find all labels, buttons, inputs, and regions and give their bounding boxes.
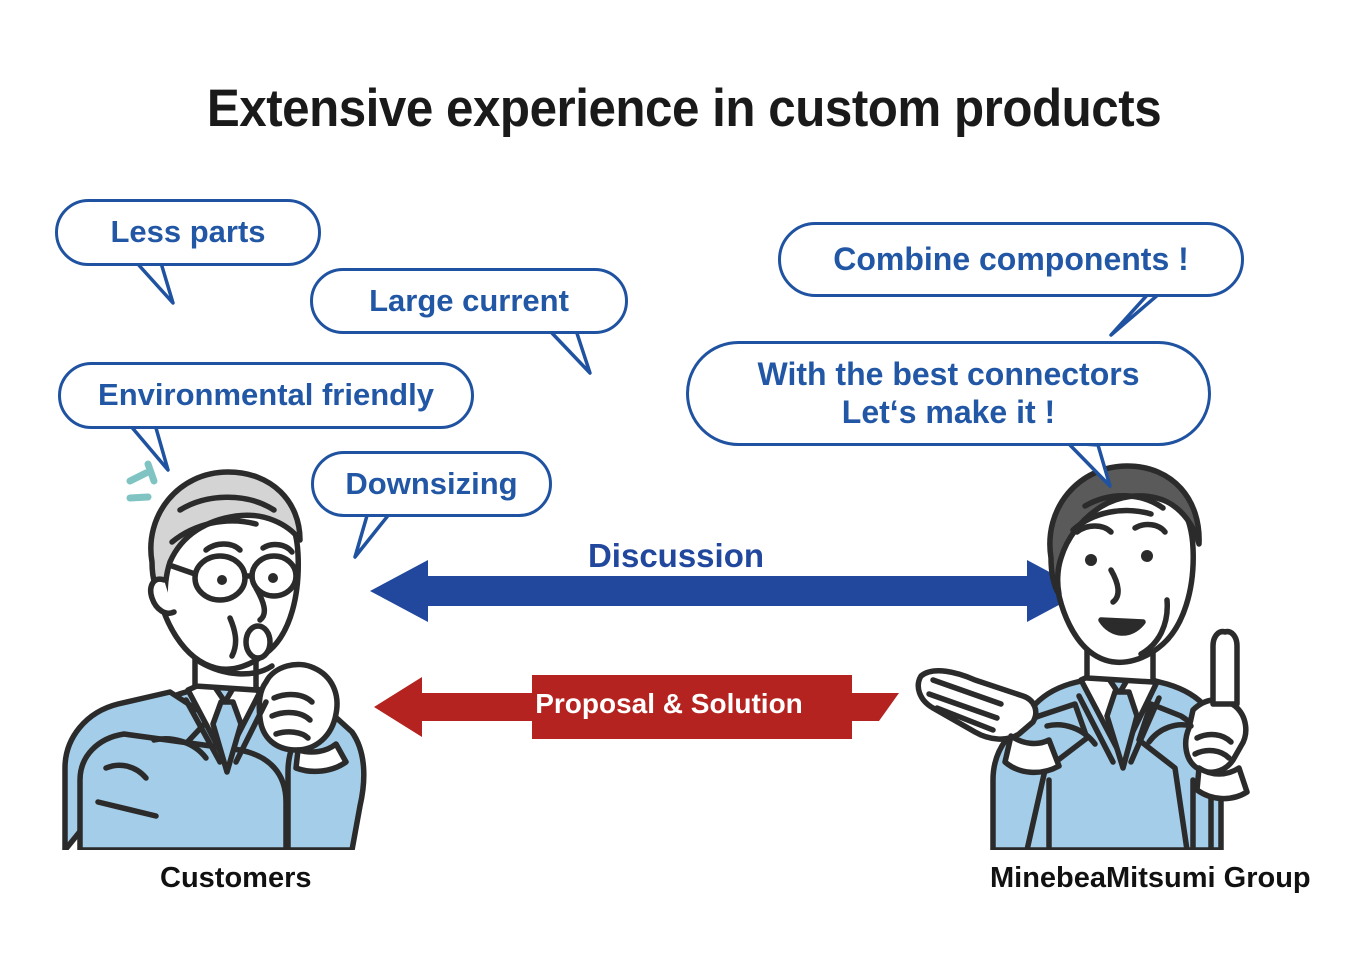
speech-bubble-best-connectors-line2: Let‘s make it ! bbox=[842, 394, 1055, 432]
speech-bubble-downsizing-text: Downsizing bbox=[311, 451, 552, 517]
proposal-arrow bbox=[374, 667, 959, 747]
speech-bubble-less-parts-text: Less parts bbox=[55, 199, 321, 266]
speech-bubble-environmental-friendly-text: Environmental friendly bbox=[58, 362, 474, 429]
page-title: Extensive experience in custom products bbox=[48, 78, 1320, 139]
speech-bubble-combine-components-text: Combine components ! bbox=[778, 222, 1244, 297]
caption-minebea-mitsumi-group: MinebeaMitsumi Group bbox=[990, 862, 1311, 895]
caption-customers: Customers bbox=[160, 862, 312, 895]
presenting-person-icon bbox=[915, 450, 1265, 850]
speech-bubble-best-connectors-line1: With the best connectors bbox=[758, 356, 1140, 394]
speech-bubble-large-current-text: Large current bbox=[310, 268, 628, 334]
speech-bubble-best-connectors-box: With the best connectors Let‘s make it ! bbox=[686, 341, 1211, 446]
slide-canvas: Extensive experience in custom products … bbox=[0, 0, 1368, 972]
